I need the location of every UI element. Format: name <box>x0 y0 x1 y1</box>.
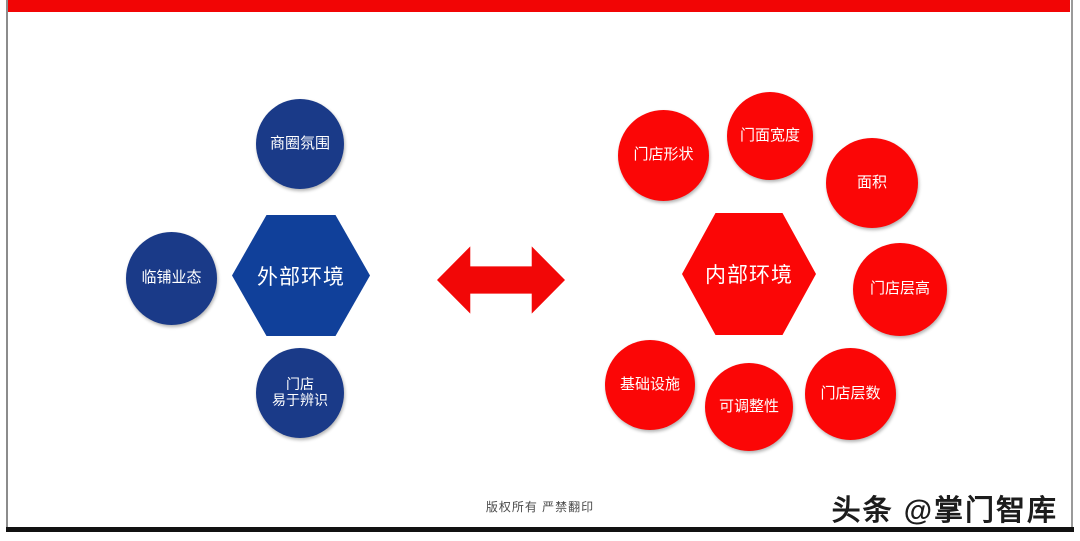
hexagon-external-environment[interactable]: 外部环境 <box>232 215 370 336</box>
node-red-adjustability[interactable]: 可调整性 <box>705 363 793 451</box>
node-red-floor-count[interactable]: 门店层数 <box>805 348 896 440</box>
node-label-line-1: 门店 <box>286 376 314 392</box>
node-label: 可调整性 <box>719 399 779 416</box>
slide-canvas: 商圈氛围 临铺业态 门店 易于辨识 外部环境 门店形状 门面宽度 面积 门店层 <box>0 0 1080 541</box>
node-label: 门店层高 <box>870 281 930 298</box>
double-arrow-icon <box>437 240 565 320</box>
frame-left-border <box>6 0 8 527</box>
node-red-facade-width[interactable]: 门面宽度 <box>727 92 813 180</box>
node-label: 基础设施 <box>620 377 680 394</box>
node-label: 商圈氛围 <box>270 136 330 153</box>
node-label: 临铺业态 <box>141 270 201 287</box>
node-blue-business-district[interactable]: 商圈氛围 <box>256 99 344 189</box>
hexagon-label: 内部环境 <box>705 259 793 289</box>
node-red-area[interactable]: 面积 <box>826 138 918 228</box>
frame-right-border <box>1071 0 1073 527</box>
node-label: 门店形状 <box>633 147 693 164</box>
node-label: 门店 易于辨识 <box>272 377 328 408</box>
node-red-floor-height[interactable]: 门店层高 <box>853 243 947 336</box>
node-label: 门店层数 <box>820 386 880 403</box>
node-label: 门面宽度 <box>740 128 800 145</box>
node-label-line-2: 易于辨识 <box>272 392 328 408</box>
node-red-infrastructure[interactable]: 基础设施 <box>605 340 695 430</box>
node-blue-neighbor-format[interactable]: 临铺业态 <box>126 232 217 325</box>
node-label: 面积 <box>857 175 887 192</box>
hexagon-internal-environment[interactable]: 内部环境 <box>682 213 816 335</box>
node-red-store-shape[interactable]: 门店形状 <box>618 110 709 201</box>
watermark-text: 头条 @掌门智库 <box>832 487 1058 529</box>
top-red-bar <box>8 0 1070 12</box>
hexagon-label: 外部环境 <box>257 261 345 291</box>
node-blue-store-recognizable[interactable]: 门店 易于辨识 <box>256 348 344 438</box>
